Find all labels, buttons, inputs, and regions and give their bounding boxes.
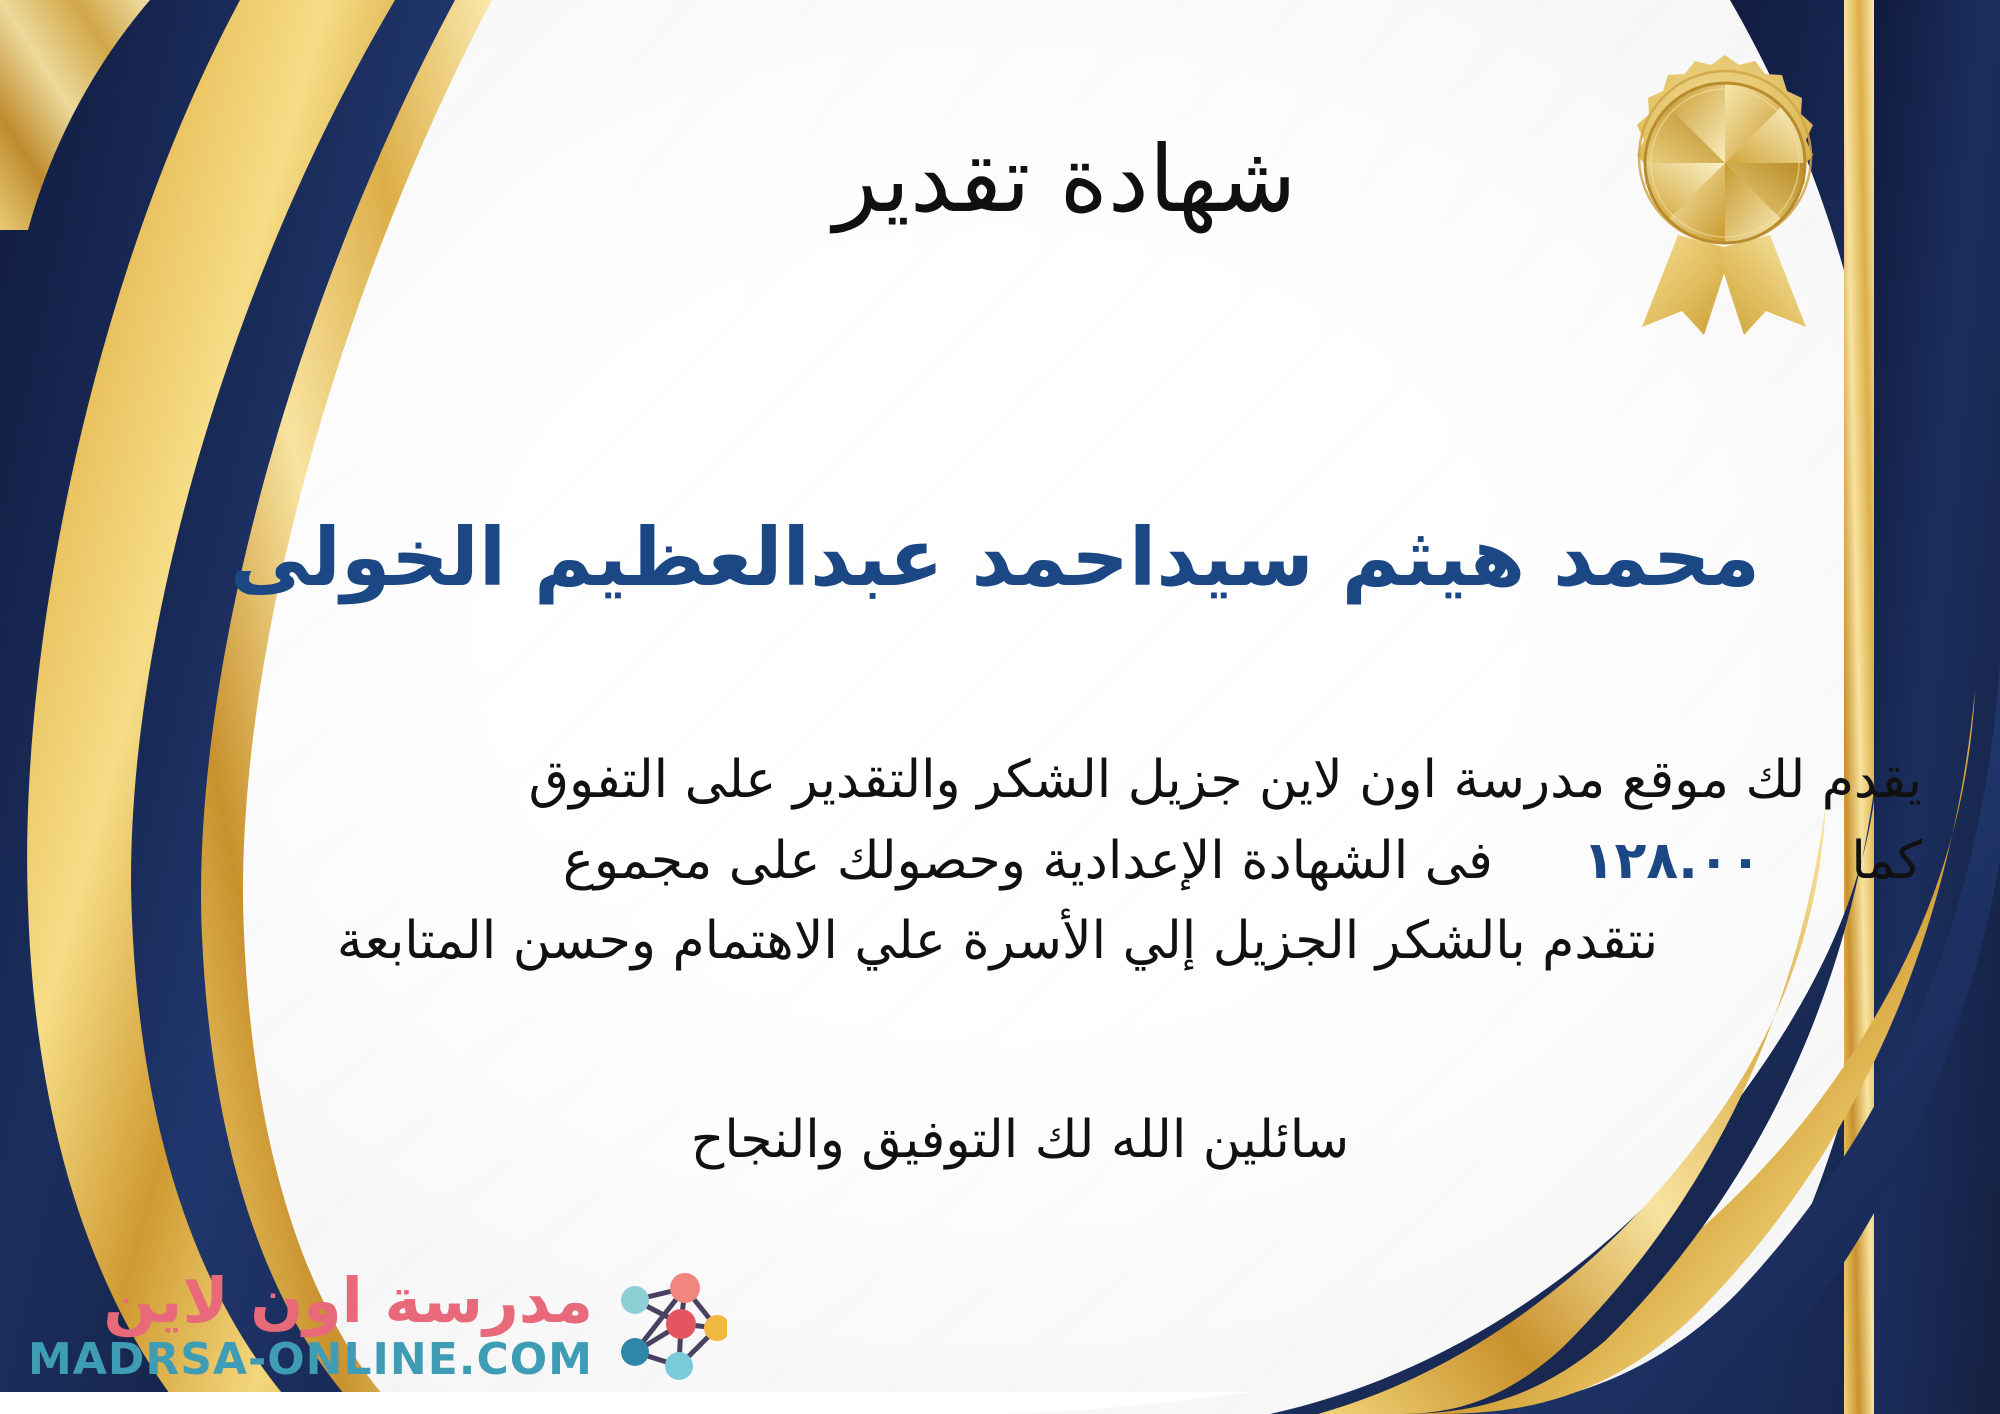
page-title: شهادة تقدير — [0, 128, 2000, 231]
body-line-2-prefix: فى الشهادة الإعدادية وحصولك على مجموع — [563, 831, 1493, 891]
body-line-1: يقدم لك موقع مدرسة اون لاين جزيل الشكر و… — [55, 740, 1940, 821]
recipient-name: محمد هيثم سيداحمد عبدالعظيم الخولى — [60, 508, 1930, 608]
brand-logo-text: مدرسة اون لاين MADRSA-ONLINE.COM — [28, 1270, 593, 1382]
body-line-2-suffix: كما — [1851, 831, 1922, 891]
body-line-3: نتقدم بالشكر الجزيل إلي الأسرة علي الاهت… — [55, 901, 1940, 982]
network-nodes-icon — [607, 1266, 727, 1386]
score-value: ١٢٨.٠٠ — [1557, 831, 1787, 891]
brand-logo[interactable]: مدرسة اون لاين MADRSA-ONLINE.COM — [28, 1266, 727, 1386]
certificate-body: يقدم لك موقع مدرسة اون لاين جزيل الشكر و… — [55, 740, 1940, 982]
brand-name-arabic: مدرسة اون لاين — [103, 1270, 593, 1332]
certificate-canvas: شهادة تقدير محمد هيثم سيداحمد عبدالعظيم … — [0, 0, 2000, 1414]
certificate-content: شهادة تقدير محمد هيثم سيداحمد عبدالعظيم … — [0, 0, 2000, 1414]
closing-wish: سائلين الله لك التوفيق والنجاح — [0, 1110, 2000, 1170]
brand-domain: MADRSA-ONLINE.COM — [28, 1338, 593, 1382]
body-line-2: كما١٢٨.٠٠فى الشهادة الإعدادية وحصولك على… — [55, 821, 1940, 902]
